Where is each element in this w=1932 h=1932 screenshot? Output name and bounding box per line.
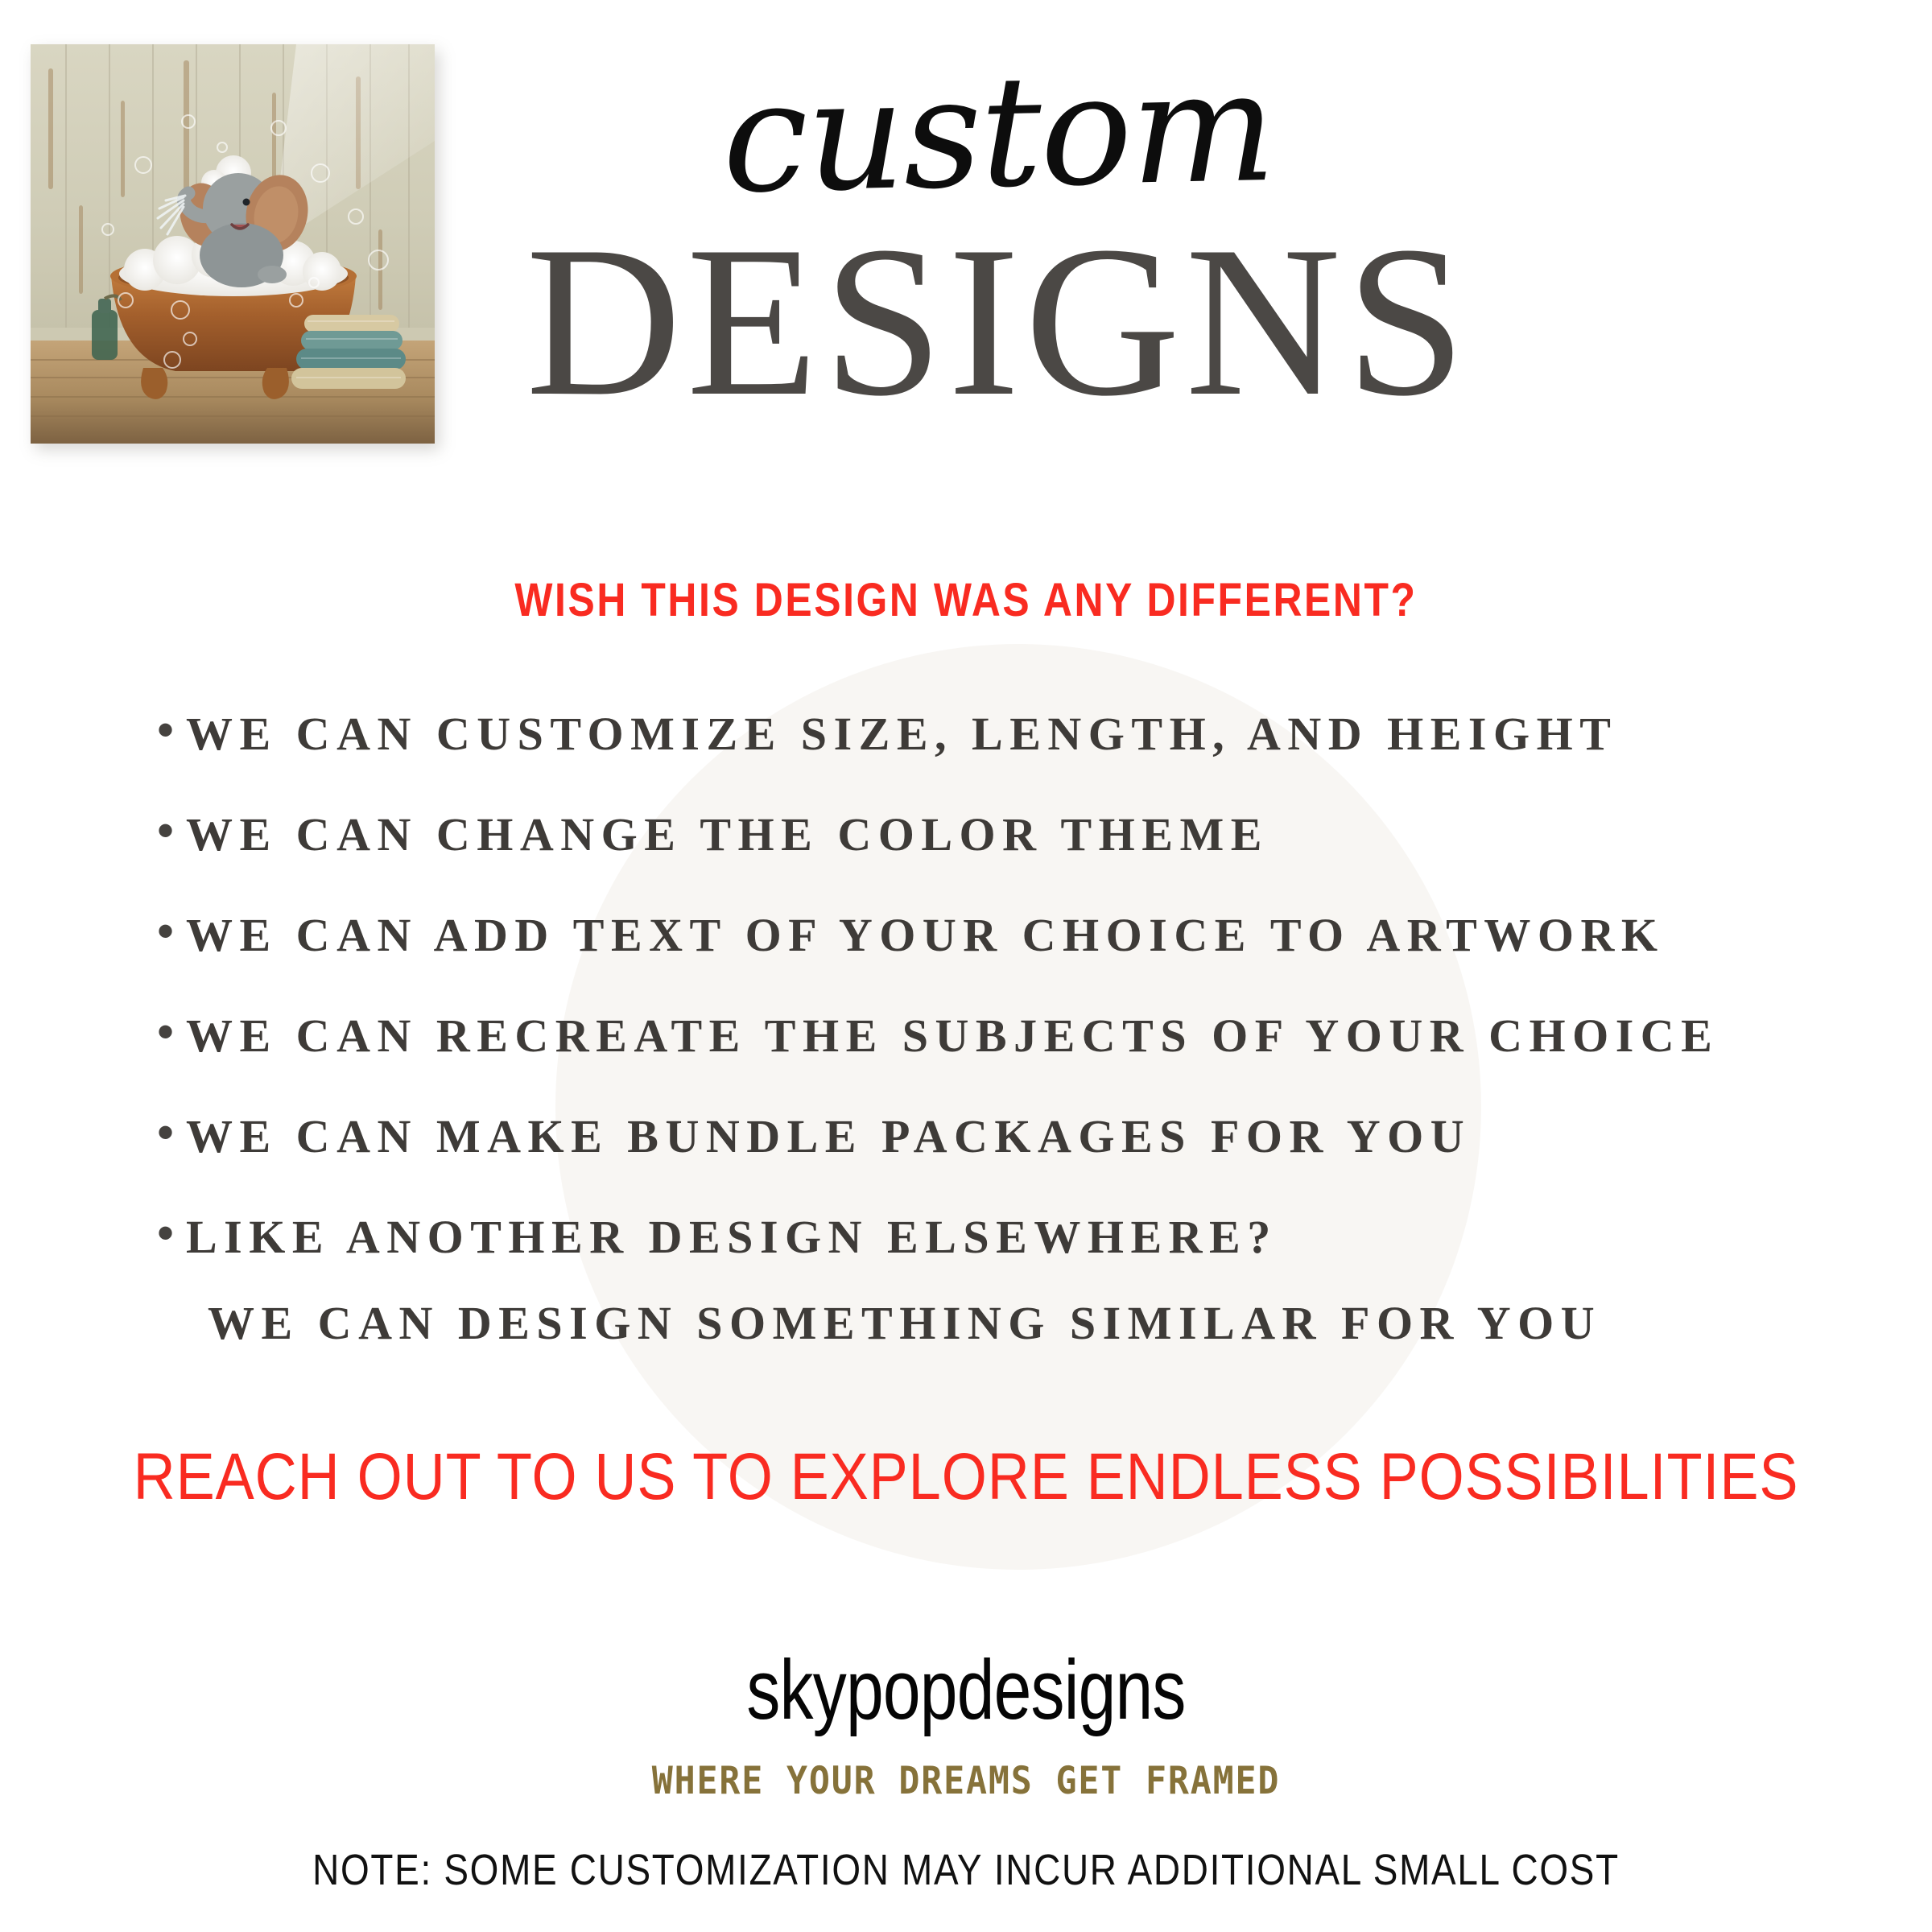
bullet-dot-icon: •	[157, 1008, 186, 1056]
main-heading-designs: DESIGNS	[435, 219, 1562, 424]
customization-options-list: • WE CAN CUSTOMIZE SIZE, LENGTH, AND HEI…	[157, 707, 1847, 1311]
bullet-dot-icon: •	[157, 1108, 186, 1157]
heading-group: custom DESIGNS	[435, 56, 1562, 424]
bullet-dot-icon: •	[157, 907, 186, 956]
list-item: • WE CAN ADD TEXT OF YOUR CHOICE TO ARTW…	[157, 908, 1847, 1009]
brand-tagline: WHERE YOUR DREAMS GET FRAMED	[77, 1759, 1855, 1803]
list-item-label: WE CAN CUSTOMIZE SIZE, LENGTH, AND HEIGH…	[186, 707, 1617, 761]
call-to-action-text: REACH OUT TO US TO EXPLORE ENDLESS POSSI…	[116, 1439, 1816, 1515]
list-item: • WE CAN CHANGE THE COLOR THEME	[157, 807, 1847, 908]
brand-wordmark: skypopdesigns	[193, 1642, 1739, 1739]
list-item-label: WE CAN ADD TEXT OF YOUR CHOICE TO ARTWOR…	[186, 908, 1664, 962]
list-item-label: WE CAN RECREATE THE SUBJECTS OF YOUR CHO…	[186, 1009, 1719, 1063]
bullet-dot-icon: •	[157, 1209, 186, 1257]
list-item-label: WE CAN CHANGE THE COLOR THEME	[186, 807, 1269, 861]
list-item: • WE CAN RECREATE THE SUBJECTS OF YOUR C…	[157, 1009, 1847, 1109]
list-item-continuation: WE CAN DESIGN SOMETHING SIMILAR FOR YOU	[208, 1296, 1601, 1350]
bullet-dot-icon: •	[157, 807, 186, 855]
list-item-label: WE CAN MAKE BUNDLE PACKAGES FOR YOU	[186, 1109, 1471, 1163]
bullet-dot-icon: •	[157, 706, 186, 754]
list-item: • WE CAN MAKE BUNDLE PACKAGES FOR YOU	[157, 1109, 1847, 1210]
artwork-thumbnail[interactable]	[31, 44, 435, 444]
elephant-bath-illustration	[31, 44, 435, 444]
subtitle-question: WISH THIS DESIGN WAS ANY DIFFERENT?	[135, 573, 1797, 627]
script-heading-custom: custom	[433, 44, 1563, 221]
poster-canvas: custom DESIGNS WISH THIS DESIGN WAS ANY …	[0, 0, 1932, 1932]
footnote-disclaimer: NOTE: SOME CUSTOMIZATION MAY INCUR ADDIT…	[145, 1845, 1787, 1895]
list-item: • WE CAN CUSTOMIZE SIZE, LENGTH, AND HEI…	[157, 707, 1847, 807]
list-item-label: LIKE ANOTHER DESIGN ELSEWHERE?	[186, 1210, 1278, 1264]
